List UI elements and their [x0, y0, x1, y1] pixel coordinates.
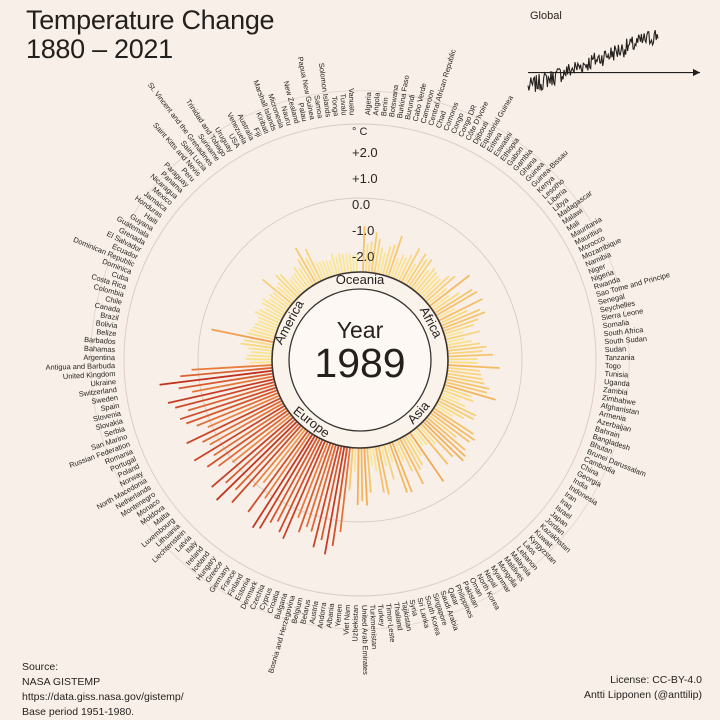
axis-unit-label: ° C	[352, 124, 422, 140]
country-label: Antigua and Barbuda	[46, 361, 117, 372]
continent-label-oceania: Oceania	[336, 272, 385, 287]
axis-tick-2: 0.0	[352, 192, 422, 218]
bar-uzbekistan	[358, 448, 359, 505]
bar-viet-nam	[355, 448, 356, 472]
bar-togo	[448, 362, 477, 363]
bar-united-arab-emirates	[361, 448, 362, 501]
bar-turkmenistan	[364, 448, 367, 506]
bar-uganda	[448, 368, 480, 371]
bar-sudan	[448, 355, 493, 357]
bar-timor-leste	[370, 447, 372, 465]
bar-antigua-and-barbuda	[250, 362, 272, 363]
bar-canada	[211, 329, 273, 342]
bar-barbados	[251, 352, 272, 354]
bar-niger	[442, 312, 485, 328]
bar-belize	[248, 348, 272, 351]
bar-laos	[419, 425, 436, 444]
axis-tick-1: +1.0	[352, 166, 422, 192]
country-label: Uzbekistan	[350, 605, 360, 642]
axis-tick-0: +2.0	[352, 140, 422, 166]
bar-slovenia	[168, 379, 274, 403]
axis-tick-labels: ° C +2.0 +1.0 0.0 -1.0 -2.0	[352, 124, 422, 270]
license-credit: License: CC-BY-4.0 Antti Lipponen (@antt…	[584, 673, 702, 703]
source-note: Source: NASA GISTEMP https://data.giss.n…	[22, 660, 184, 720]
center-disc	[272, 272, 448, 448]
radial-bar-chart: AlgeriaAngolaBeninBotswanaBurkina FasoBu…	[0, 0, 720, 720]
bar-tunisia	[448, 365, 500, 368]
bar-solomon-islands	[346, 254, 348, 272]
bar-south-sudan	[448, 351, 483, 354]
axis-tick-4: -2.0	[352, 244, 422, 270]
country-label: Vanuatu	[347, 88, 357, 115]
visualization-root: Temperature Change 1880 – 2021 Global Al…	[0, 0, 720, 720]
axis-tick-3: -1.0	[352, 218, 422, 244]
country-label: United Arab Emirates	[360, 605, 370, 675]
country-label: Argentina	[83, 353, 116, 362]
bar-bahamas	[247, 355, 272, 356]
